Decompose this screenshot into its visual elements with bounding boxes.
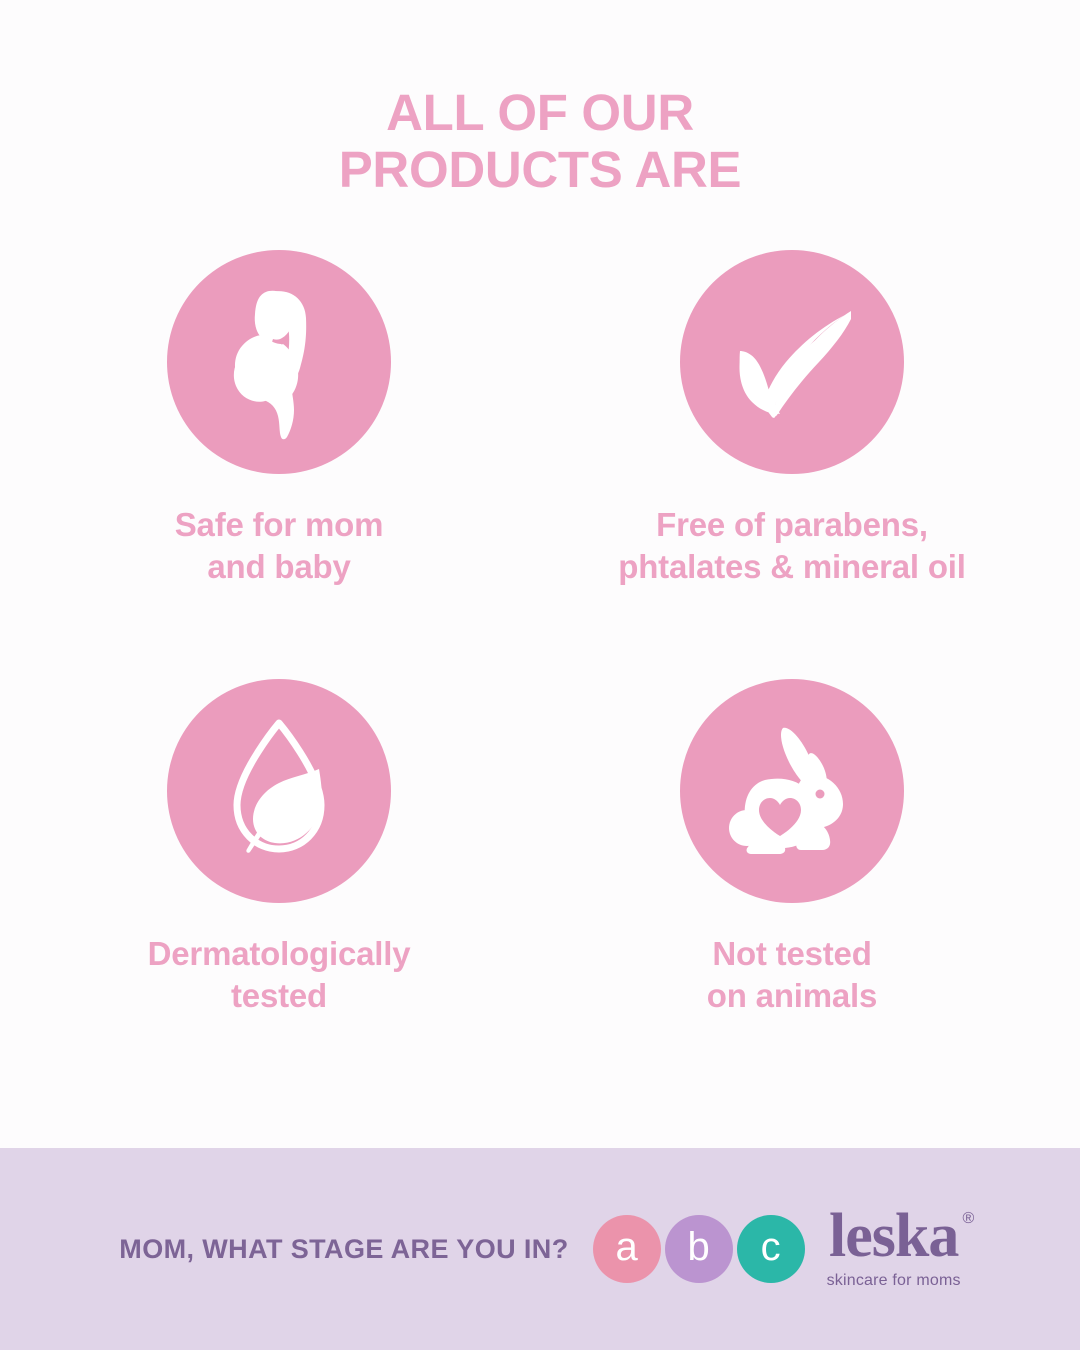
stage-option-b[interactable]: b	[665, 1215, 733, 1283]
rabbit-heart-icon	[717, 718, 867, 864]
feature-caption: Not tested on animals	[707, 933, 877, 1016]
feature-icon-badge	[680, 250, 904, 474]
feature-icon-badge	[167, 679, 391, 903]
brand-tagline: skincare for moms	[827, 1272, 961, 1290]
registered-trademark-icon: ®	[963, 1212, 974, 1227]
stage-option-c[interactable]: c	[737, 1215, 805, 1283]
stage-option-c-label: c	[761, 1227, 781, 1267]
feature-item-not-tested-on-animals: Not tested on animals	[540, 679, 1020, 1016]
feature-caption-line-1: Safe for mom	[175, 504, 383, 546]
poster: ALL OF OUR PRODUCTS ARE	[0, 0, 1080, 1350]
feature-grid: Safe for mom and baby	[0, 250, 1080, 1016]
stage-option-a-label: a	[615, 1227, 637, 1267]
leaf-checkmark-icon	[718, 288, 866, 436]
stage-option-b-label: b	[687, 1227, 709, 1267]
feature-caption-line-1: Free of parabens,	[618, 504, 966, 546]
brand-logo[interactable]: leska® skincare for moms	[827, 1208, 961, 1289]
droplet-leaf-icon	[205, 715, 353, 867]
feature-caption-line-2: tested	[148, 975, 411, 1017]
feature-caption-line-1: Not tested	[707, 933, 877, 975]
feature-caption-line-2: phtalates & mineral oil	[618, 546, 966, 588]
feature-caption-line-2: and baby	[175, 546, 383, 588]
brand-name-text: leska	[829, 1202, 958, 1270]
headline-line-2: PRODUCTS ARE	[0, 141, 1080, 198]
feature-item-safe-for-mom: Safe for mom and baby	[60, 250, 540, 587]
pregnant-woman-icon	[205, 282, 353, 442]
headline-section: ALL OF OUR PRODUCTS ARE	[0, 0, 1080, 198]
feature-item-dermatologically-tested: Dermatologically tested	[60, 679, 540, 1016]
feature-caption-line-1: Dermatologically	[148, 933, 411, 975]
feature-caption-line-2: on animals	[707, 975, 877, 1017]
footer-bar: MOM, WHAT STAGE ARE YOU IN? a b c leska®…	[0, 1148, 1080, 1350]
feature-icon-badge	[680, 679, 904, 903]
page-title: ALL OF OUR PRODUCTS ARE	[0, 84, 1080, 198]
brand-name: leska®	[829, 1208, 958, 1265]
feature-icon-badge	[167, 250, 391, 474]
footer-question: MOM, WHAT STAGE ARE YOU IN?	[119, 1234, 568, 1265]
feature-caption: Free of parabens, phtalates & mineral oi…	[618, 504, 966, 587]
stage-selector: a b c	[593, 1215, 805, 1283]
headline-line-1: ALL OF OUR	[0, 84, 1080, 141]
stage-option-a[interactable]: a	[593, 1215, 661, 1283]
feature-item-free-of-parabens: Free of parabens, phtalates & mineral oi…	[540, 250, 1020, 587]
feature-caption: Dermatologically tested	[148, 933, 411, 1016]
feature-caption: Safe for mom and baby	[175, 504, 383, 587]
